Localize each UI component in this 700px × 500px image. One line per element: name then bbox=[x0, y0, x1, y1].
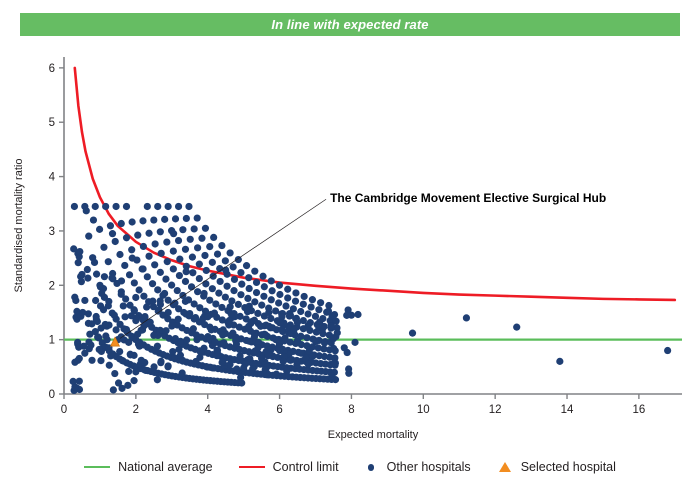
data-point-other-hospital[interactable] bbox=[154, 376, 161, 383]
data-point-other-hospital[interactable] bbox=[264, 351, 271, 358]
data-point-other-hospital[interactable] bbox=[201, 252, 208, 259]
data-point-other-hospital[interactable] bbox=[282, 302, 289, 309]
data-point-other-hospital[interactable] bbox=[196, 275, 203, 282]
data-point-other-hospital[interactable] bbox=[123, 234, 130, 241]
data-point-other-hospital[interactable] bbox=[157, 228, 164, 235]
data-point-other-hospital[interactable] bbox=[189, 269, 196, 276]
data-point-other-hospital[interactable] bbox=[237, 374, 244, 381]
data-point-other-hospital[interactable] bbox=[231, 276, 238, 283]
data-point-other-hospital[interactable] bbox=[140, 293, 147, 300]
data-point-other-hospital[interactable] bbox=[235, 301, 242, 308]
data-point-other-hospital[interactable] bbox=[165, 362, 172, 369]
data-point-other-hospital[interactable] bbox=[276, 291, 283, 298]
data-point-other-hospital[interactable] bbox=[258, 355, 265, 362]
data-point-other-hospital[interactable] bbox=[227, 310, 234, 317]
data-point-other-hospital[interactable] bbox=[93, 315, 100, 322]
data-point-other-hospital[interactable] bbox=[81, 297, 88, 304]
data-point-other-hospital[interactable] bbox=[214, 250, 221, 257]
data-point-other-hospital[interactable] bbox=[96, 282, 103, 289]
data-point-other-hospital[interactable] bbox=[227, 249, 234, 256]
data-point-other-hospital[interactable] bbox=[125, 339, 132, 346]
data-point-other-hospital[interactable] bbox=[138, 357, 145, 364]
data-point-other-hospital[interactable] bbox=[292, 289, 299, 296]
data-point-other-hospital[interactable] bbox=[317, 299, 324, 306]
data-point-other-hospital[interactable] bbox=[124, 382, 131, 389]
data-point-other-hospital[interactable] bbox=[230, 287, 237, 294]
data-point-other-hospital[interactable] bbox=[83, 207, 90, 214]
data-point-other-hospital[interactable] bbox=[245, 274, 252, 281]
data-point-other-hospital[interactable] bbox=[254, 310, 261, 317]
data-point-other-hospital[interactable] bbox=[268, 296, 275, 303]
y-axis-title: Standardised mortality ratio bbox=[13, 159, 25, 293]
data-point-other-hospital[interactable] bbox=[119, 357, 126, 364]
data-point-other-hospital[interactable] bbox=[284, 294, 291, 301]
data-point-other-hospital[interactable] bbox=[209, 364, 216, 371]
data-point-other-hospital[interactable] bbox=[132, 294, 139, 301]
data-point-other-hospital[interactable] bbox=[330, 345, 337, 352]
data-point-other-hospital[interactable] bbox=[154, 203, 161, 210]
data-point-other-hospital[interactable] bbox=[132, 368, 139, 375]
data-point-other-hospital[interactable] bbox=[218, 304, 225, 311]
data-point-other-hospital[interactable] bbox=[273, 371, 280, 378]
data-point-other-hospital[interactable] bbox=[191, 225, 198, 232]
data-point-other-hospital[interactable] bbox=[101, 273, 108, 280]
data-point-other-hospital[interactable] bbox=[76, 355, 83, 362]
data-point-other-hospital[interactable] bbox=[129, 218, 136, 225]
data-point-other-hospital[interactable] bbox=[174, 287, 181, 294]
y-tick-label: 0 bbox=[49, 389, 55, 401]
data-point-other-hospital[interactable] bbox=[194, 244, 201, 251]
data-point-other-hospital[interactable] bbox=[226, 317, 233, 324]
data-point-other-hospital[interactable] bbox=[70, 378, 77, 385]
data-point-other-hospital[interactable] bbox=[246, 285, 253, 292]
data-point-other-hospital[interactable] bbox=[150, 216, 157, 223]
data-point-other-hospital[interactable] bbox=[179, 226, 186, 233]
data-point-other-hospital[interactable] bbox=[182, 298, 189, 305]
data-point-other-hospital[interactable] bbox=[211, 339, 218, 346]
data-point-other-hospital[interactable] bbox=[309, 353, 316, 360]
data-point-other-hospital[interactable] bbox=[258, 302, 265, 309]
y-tick-label: 4 bbox=[49, 172, 56, 184]
data-point-other-hospital[interactable] bbox=[86, 331, 93, 338]
legend-item[interactable]: Other hospitals bbox=[365, 460, 471, 474]
data-point-other-hospital[interactable] bbox=[202, 280, 209, 287]
data-point-other-hospital[interactable] bbox=[321, 339, 328, 346]
data-point-other-hospital[interactable] bbox=[210, 234, 217, 241]
data-point-other-hospital[interactable] bbox=[308, 303, 315, 310]
data-point-other-hospital[interactable] bbox=[131, 279, 138, 286]
data-point-other-hospital[interactable] bbox=[215, 351, 222, 358]
data-point-other-hospital[interactable] bbox=[71, 203, 78, 210]
data-point-other-hospital[interactable] bbox=[144, 203, 151, 210]
data-point-other-hospital[interactable] bbox=[97, 357, 104, 364]
data-point-other-hospital[interactable] bbox=[227, 303, 234, 310]
data-point-other-hospital[interactable] bbox=[222, 294, 229, 301]
data-point-other-hospital[interactable] bbox=[283, 368, 290, 375]
data-point-other-hospital[interactable] bbox=[185, 203, 192, 210]
data-point-other-hospital[interactable] bbox=[142, 367, 149, 374]
data-point-other-hospital[interactable] bbox=[118, 291, 125, 298]
data-point-other-hospital[interactable] bbox=[513, 324, 520, 331]
data-point-other-hospital[interactable] bbox=[154, 343, 161, 350]
data-point-other-hospital[interactable] bbox=[253, 289, 260, 296]
data-point-other-hospital[interactable] bbox=[293, 361, 300, 368]
data-point-other-hospital[interactable] bbox=[249, 365, 256, 372]
data-point-other-hospital[interactable] bbox=[233, 340, 240, 347]
data-point-other-hospital[interactable] bbox=[91, 259, 98, 266]
data-point-other-hospital[interactable] bbox=[247, 320, 254, 327]
data-point-other-hospital[interactable] bbox=[328, 322, 335, 329]
data-point-other-hospital[interactable] bbox=[280, 358, 287, 365]
data-point-other-hospital[interactable] bbox=[179, 369, 186, 376]
data-point-other-hospital[interactable] bbox=[237, 291, 244, 298]
data-point-other-hospital[interactable] bbox=[330, 360, 337, 367]
data-point-other-hospital[interactable] bbox=[269, 287, 276, 294]
data-point-other-hospital[interactable] bbox=[186, 310, 193, 317]
data-point-other-hospital[interactable] bbox=[172, 215, 179, 222]
data-point-other-hospital[interactable] bbox=[316, 318, 323, 325]
data-point-other-hospital[interactable] bbox=[104, 336, 111, 343]
data-point-other-hospital[interactable] bbox=[287, 357, 294, 364]
data-point-other-hospital[interactable] bbox=[85, 233, 92, 240]
data-point-other-hospital[interactable] bbox=[190, 325, 197, 332]
data-point-other-hospital[interactable] bbox=[118, 220, 125, 227]
data-point-other-hospital[interactable] bbox=[219, 331, 226, 338]
data-point-other-hospital[interactable] bbox=[125, 368, 132, 375]
data-point-other-hospital[interactable] bbox=[100, 306, 107, 313]
data-point-other-hospital[interactable] bbox=[144, 273, 151, 280]
data-point-other-hospital[interactable] bbox=[300, 301, 307, 308]
data-point-other-hospital[interactable] bbox=[161, 290, 168, 297]
data-point-other-hospital[interactable] bbox=[303, 334, 310, 341]
data-point-other-hospital[interactable] bbox=[98, 290, 105, 297]
data-point-other-hospital[interactable] bbox=[134, 331, 141, 338]
data-point-other-hospital[interactable] bbox=[203, 267, 210, 274]
data-point-other-hospital[interactable] bbox=[281, 334, 288, 341]
data-point-other-hospital[interactable] bbox=[168, 282, 175, 289]
data-point-other-hospital[interactable] bbox=[120, 302, 127, 309]
data-point-other-hospital[interactable] bbox=[107, 352, 114, 359]
data-point-other-hospital[interactable] bbox=[136, 343, 143, 350]
data-point-other-hospital[interactable] bbox=[275, 299, 282, 306]
data-point-other-hospital[interactable] bbox=[87, 341, 94, 348]
data-point-other-hospital[interactable] bbox=[197, 348, 204, 355]
data-point-other-hospital[interactable] bbox=[278, 313, 285, 320]
data-point-other-hospital[interactable] bbox=[128, 246, 135, 253]
data-point-other-hospital[interactable] bbox=[163, 238, 170, 245]
data-point-other-hospital[interactable] bbox=[80, 343, 87, 350]
data-point-other-hospital[interactable] bbox=[262, 331, 269, 338]
data-point-other-hospital[interactable] bbox=[253, 279, 260, 286]
data-point-other-hospital[interactable] bbox=[243, 262, 250, 269]
data-point-other-hospital[interactable] bbox=[176, 272, 183, 279]
x-tick-label: 2 bbox=[133, 404, 139, 416]
data-point-other-hospital[interactable] bbox=[93, 271, 100, 278]
data-point-other-hospital[interactable] bbox=[348, 312, 355, 319]
data-point-other-hospital[interactable] bbox=[90, 216, 97, 223]
data-point-other-hospital[interactable] bbox=[272, 336, 279, 343]
data-point-other-hospital[interactable] bbox=[118, 277, 125, 284]
data-point-other-hospital[interactable] bbox=[170, 265, 177, 272]
data-point-other-hospital[interactable] bbox=[81, 350, 88, 357]
data-point-other-hospital[interactable] bbox=[251, 268, 258, 275]
data-point-other-hospital[interactable] bbox=[79, 309, 86, 316]
data-point-other-hospital[interactable] bbox=[304, 310, 311, 317]
data-point-other-hospital[interactable] bbox=[149, 280, 156, 287]
data-point-other-hospital[interactable] bbox=[351, 339, 358, 346]
data-point-other-hospital[interactable] bbox=[194, 288, 201, 295]
data-point-other-hospital[interactable] bbox=[237, 269, 244, 276]
data-point-other-hospital[interactable] bbox=[305, 361, 312, 368]
data-point-other-hospital[interactable] bbox=[169, 348, 176, 355]
data-point-other-hospital[interactable] bbox=[278, 326, 285, 333]
data-point-other-hospital[interactable] bbox=[287, 312, 294, 319]
data-point-other-hospital[interactable] bbox=[261, 283, 268, 290]
data-point-other-hospital[interactable] bbox=[127, 351, 134, 358]
data-point-other-hospital[interactable] bbox=[116, 348, 123, 355]
data-point-other-hospital[interactable] bbox=[140, 243, 147, 250]
data-point-other-hospital[interactable] bbox=[175, 237, 182, 244]
legend-item[interactable]: Selected hospital bbox=[497, 460, 616, 474]
funnel-chart: 0246810121416 0123456 Expected mortality… bbox=[0, 40, 700, 450]
data-point-other-hospital[interactable] bbox=[292, 298, 299, 305]
data-point-other-hospital[interactable] bbox=[222, 266, 229, 273]
data-point-other-hospital[interactable] bbox=[206, 243, 213, 250]
data-point-other-hospital[interactable] bbox=[251, 333, 258, 340]
legend-item[interactable]: Control limit bbox=[239, 460, 339, 474]
data-point-other-hospital[interactable] bbox=[315, 306, 322, 313]
data-point-other-hospital[interactable] bbox=[116, 251, 123, 258]
data-point-other-hospital[interactable] bbox=[183, 336, 190, 343]
x-tick-label: 4 bbox=[205, 404, 212, 416]
data-point-other-hospital[interactable] bbox=[164, 258, 171, 265]
data-point-other-hospital[interactable] bbox=[105, 298, 112, 305]
data-point-other-hospital[interactable] bbox=[139, 265, 146, 272]
data-point-other-hospital[interactable] bbox=[106, 362, 113, 369]
data-point-other-hospital[interactable] bbox=[76, 248, 83, 255]
data-point-other-hospital[interactable] bbox=[150, 363, 157, 370]
data-point-other-hospital[interactable] bbox=[121, 262, 128, 269]
data-point-other-hospital[interactable] bbox=[354, 311, 361, 318]
data-point-other-hospital[interactable] bbox=[168, 322, 175, 329]
data-point-other-hospital[interactable] bbox=[206, 297, 213, 304]
data-point-other-hospital[interactable] bbox=[257, 323, 264, 330]
data-point-other-hospital[interactable] bbox=[172, 335, 179, 342]
data-point-other-hospital[interactable] bbox=[330, 335, 337, 342]
status-banner-label: In line with expected rate bbox=[271, 17, 428, 32]
data-point-other-hospital[interactable] bbox=[113, 326, 120, 333]
data-point-other-hospital[interactable] bbox=[139, 217, 146, 224]
data-point-other-hospital[interactable] bbox=[215, 290, 222, 297]
data-point-other-hospital[interactable] bbox=[96, 346, 103, 353]
data-point-other-hospital[interactable] bbox=[129, 255, 136, 262]
legend-item[interactable]: National average bbox=[84, 460, 213, 474]
data-point-other-hospital[interactable] bbox=[276, 319, 283, 326]
data-point-other-hospital[interactable] bbox=[145, 253, 152, 260]
data-point-other-hospital[interactable] bbox=[157, 269, 164, 276]
data-point-other-hospital[interactable] bbox=[218, 242, 225, 249]
data-point-other-hospital[interactable] bbox=[110, 386, 117, 393]
data-point-other-hospital[interactable] bbox=[298, 350, 305, 357]
data-point-other-hospital[interactable] bbox=[220, 339, 227, 346]
data-point-other-hospital[interactable] bbox=[151, 261, 158, 268]
data-point-other-hospital[interactable] bbox=[152, 240, 159, 247]
data-point-other-hospital[interactable] bbox=[157, 358, 164, 365]
data-point-other-hospital[interactable] bbox=[211, 309, 218, 316]
data-point-other-hospital[interactable] bbox=[162, 327, 169, 334]
data-point-other-hospital[interactable] bbox=[165, 203, 172, 210]
data-point-other-hospital[interactable] bbox=[189, 254, 196, 261]
data-point-other-hospital[interactable] bbox=[111, 312, 118, 319]
data-point-other-hospital[interactable] bbox=[196, 261, 203, 268]
data-point-other-hospital[interactable] bbox=[319, 325, 326, 332]
data-point-other-hospital[interactable] bbox=[217, 278, 224, 285]
y-tick-label: 2 bbox=[49, 280, 55, 292]
data-point-other-hospital[interactable] bbox=[309, 296, 316, 303]
data-point-other-hospital[interactable] bbox=[108, 274, 115, 281]
data-point-other-hospital[interactable] bbox=[409, 330, 416, 337]
data-point-other-hospital[interactable] bbox=[223, 283, 230, 290]
data-point-other-hospital[interactable] bbox=[175, 203, 182, 210]
data-point-other-hospital[interactable] bbox=[244, 295, 251, 302]
data-point-other-hospital[interactable] bbox=[229, 330, 236, 337]
data-point-other-hospital[interactable] bbox=[183, 215, 190, 222]
data-point-other-hospital[interactable] bbox=[145, 230, 152, 237]
data-point-other-hospital[interactable] bbox=[102, 321, 109, 328]
data-point-other-hospital[interactable] bbox=[132, 317, 139, 324]
data-point-other-hospital[interactable] bbox=[240, 364, 247, 371]
data-point-other-hospital[interactable] bbox=[112, 203, 119, 210]
legend-item-label: Selected hospital bbox=[521, 460, 616, 474]
data-point-other-hospital[interactable] bbox=[209, 285, 216, 292]
data-point-other-hospital[interactable] bbox=[96, 226, 103, 233]
data-point-other-hospital[interactable] bbox=[312, 337, 319, 344]
data-point-other-hospital[interactable] bbox=[182, 246, 189, 253]
data-point-other-hospital[interactable] bbox=[222, 257, 229, 264]
data-point-other-hospital[interactable] bbox=[664, 347, 671, 354]
data-point-other-hospital[interactable] bbox=[341, 344, 348, 351]
data-point-other-hospital[interactable] bbox=[76, 378, 83, 385]
data-point-other-hospital[interactable] bbox=[297, 308, 304, 315]
data-point-other-hospital[interactable] bbox=[175, 316, 182, 323]
data-point-other-hospital[interactable] bbox=[75, 259, 82, 266]
data-point-other-hospital[interactable] bbox=[121, 313, 128, 320]
data-point-other-hospital[interactable] bbox=[556, 358, 563, 365]
data-point-other-hospital[interactable] bbox=[175, 346, 182, 353]
data-point-other-hospital[interactable] bbox=[92, 203, 99, 210]
data-point-other-hospital[interactable] bbox=[85, 320, 92, 327]
data-point-other-hospital[interactable] bbox=[284, 286, 291, 293]
data-point-other-hospital[interactable] bbox=[170, 230, 177, 237]
data-point-other-hospital[interactable] bbox=[269, 324, 276, 331]
data-point-other-hospital[interactable] bbox=[134, 232, 141, 239]
data-point-other-hospital[interactable] bbox=[204, 313, 211, 320]
data-point-other-hospital[interactable] bbox=[72, 297, 79, 304]
data-point-other-hospital[interactable] bbox=[150, 332, 157, 339]
data-point-other-hospital[interactable] bbox=[95, 333, 102, 340]
data-point-other-hospital[interactable] bbox=[102, 203, 109, 210]
data-point-other-hospital[interactable] bbox=[154, 286, 161, 293]
data-point-other-hospital[interactable] bbox=[149, 297, 156, 304]
y-tick-label: 1 bbox=[49, 335, 55, 347]
data-point-other-hospital[interactable] bbox=[187, 236, 194, 243]
data-point-other-hospital[interactable] bbox=[209, 259, 216, 266]
data-point-other-hospital[interactable] bbox=[92, 297, 99, 304]
data-point-other-hospital[interactable] bbox=[268, 277, 275, 284]
data-point-other-hospital[interactable] bbox=[123, 203, 130, 210]
data-point-other-hospital[interactable] bbox=[202, 225, 209, 232]
data-point-other-hospital[interactable] bbox=[345, 365, 352, 372]
data-point-other-hospital[interactable] bbox=[130, 377, 137, 384]
data-point-other-hospital[interactable] bbox=[107, 222, 114, 229]
data-point-other-hospital[interactable] bbox=[328, 372, 335, 379]
data-point-other-hospital[interactable] bbox=[254, 344, 261, 351]
data-point-other-hospital[interactable] bbox=[182, 278, 189, 285]
data-point-other-hospital[interactable] bbox=[262, 366, 269, 373]
data-point-other-hospital[interactable] bbox=[208, 326, 215, 333]
x-tick-label: 16 bbox=[632, 404, 645, 416]
data-point-other-hospital[interactable] bbox=[201, 290, 208, 297]
data-point-other-hospital[interactable] bbox=[170, 247, 177, 254]
data-point-other-hospital[interactable] bbox=[179, 357, 186, 364]
data-point-other-hospital[interactable] bbox=[130, 306, 137, 313]
data-point-other-hospital[interactable] bbox=[305, 322, 312, 329]
data-point-other-hospital[interactable] bbox=[294, 319, 301, 326]
data-point-other-hospital[interactable] bbox=[112, 238, 119, 245]
data-point-other-hospital[interactable] bbox=[230, 263, 237, 270]
data-point-other-hospital[interactable] bbox=[238, 281, 245, 288]
data-point-other-hospital[interactable] bbox=[198, 235, 205, 242]
data-point-other-hospital[interactable] bbox=[162, 275, 169, 282]
x-tick-label: 14 bbox=[561, 404, 574, 416]
data-point-other-hospital[interactable] bbox=[171, 354, 178, 361]
data-point-other-hospital[interactable] bbox=[78, 271, 85, 278]
data-point-other-hospital[interactable] bbox=[290, 326, 297, 333]
data-point-other-hospital[interactable] bbox=[294, 337, 301, 344]
data-point-other-hospital[interactable] bbox=[193, 336, 200, 343]
data-point-other-hospital[interactable] bbox=[260, 293, 267, 300]
x-tick-label: 10 bbox=[417, 404, 430, 416]
data-point-other-hospital[interactable] bbox=[236, 352, 243, 359]
data-point-other-hospital[interactable] bbox=[84, 266, 91, 273]
data-point-other-hospital[interactable] bbox=[136, 286, 143, 293]
data-point-other-hospital[interactable] bbox=[244, 306, 251, 313]
data-point-other-hospital[interactable] bbox=[463, 314, 470, 321]
data-point-other-hospital[interactable] bbox=[100, 244, 107, 251]
data-point-other-hospital[interactable] bbox=[126, 271, 133, 278]
data-point-other-hospital[interactable] bbox=[188, 283, 195, 290]
data-point-other-hospital[interactable] bbox=[183, 268, 190, 275]
data-point-other-hospital[interactable] bbox=[276, 347, 283, 354]
data-point-other-hospital[interactable] bbox=[105, 258, 112, 265]
data-point-other-hospital[interactable] bbox=[276, 282, 283, 289]
data-point-other-hospital[interactable] bbox=[111, 370, 118, 377]
data-point-other-hospital[interactable] bbox=[265, 309, 272, 316]
data-point-other-hospital[interactable] bbox=[233, 365, 240, 372]
data-point-other-hospital[interactable] bbox=[301, 293, 308, 300]
data-point-other-hospital[interactable] bbox=[165, 309, 172, 316]
data-point-other-hospital[interactable] bbox=[218, 359, 225, 366]
data-point-other-hospital[interactable] bbox=[109, 230, 116, 237]
data-point-other-hospital[interactable] bbox=[143, 303, 150, 310]
data-point-other-hospital[interactable] bbox=[176, 256, 183, 263]
data-point-other-hospital[interactable] bbox=[158, 250, 165, 257]
data-point-other-hospital[interactable] bbox=[88, 357, 95, 364]
data-point-other-hospital[interactable] bbox=[259, 273, 266, 280]
data-point-other-hospital[interactable] bbox=[161, 216, 168, 223]
data-point-other-hospital[interactable] bbox=[194, 214, 201, 221]
data-point-other-hospital[interactable] bbox=[212, 300, 219, 307]
